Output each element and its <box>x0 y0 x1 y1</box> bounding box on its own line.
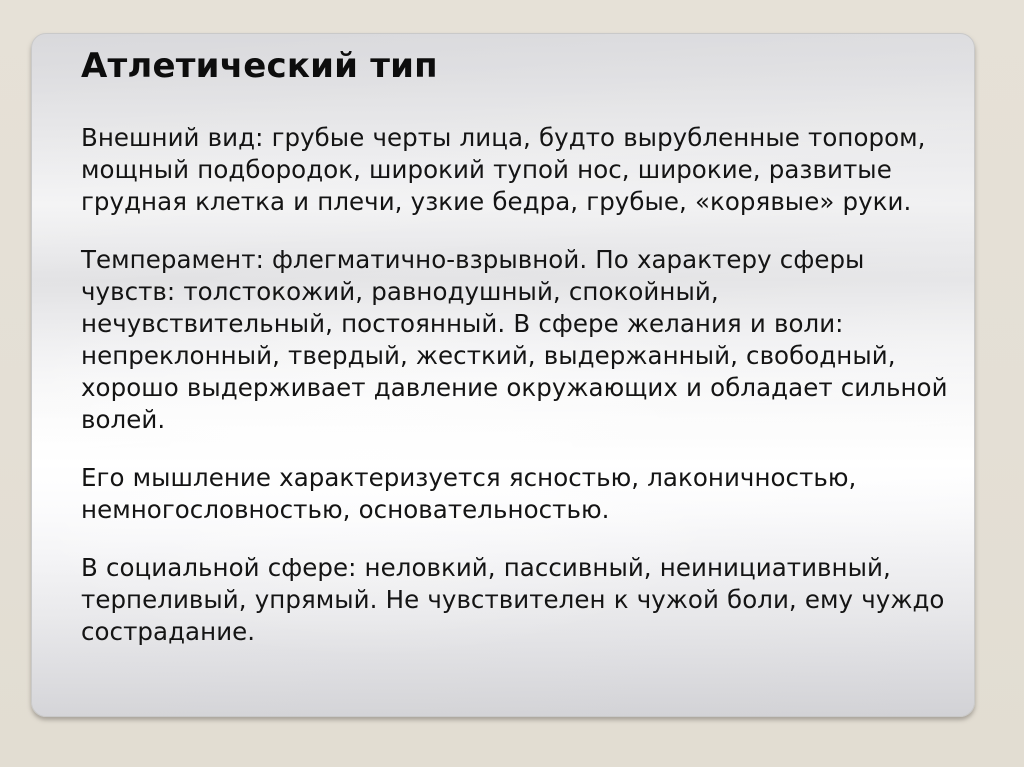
paragraph-social-sphere: В социальной сфере: неловкий, пассивный,… <box>81 552 953 648</box>
presentation-canvas: Атлетический тип Внешний вид: грубые чер… <box>0 0 1024 767</box>
slide-card: Атлетический тип Внешний вид: грубые чер… <box>31 33 975 717</box>
slide-title: Атлетический тип <box>81 46 438 87</box>
paragraph-thinking: Его мышление характеризуется ясностью, л… <box>81 462 953 526</box>
paragraph-appearance: Внешний вид: грубые черты лица, будто вы… <box>81 122 953 218</box>
paragraph-temperament: Темперамент: флегматично-взрывной. По ха… <box>81 244 953 436</box>
slide-body: Внешний вид: грубые черты лица, будто вы… <box>81 122 953 648</box>
